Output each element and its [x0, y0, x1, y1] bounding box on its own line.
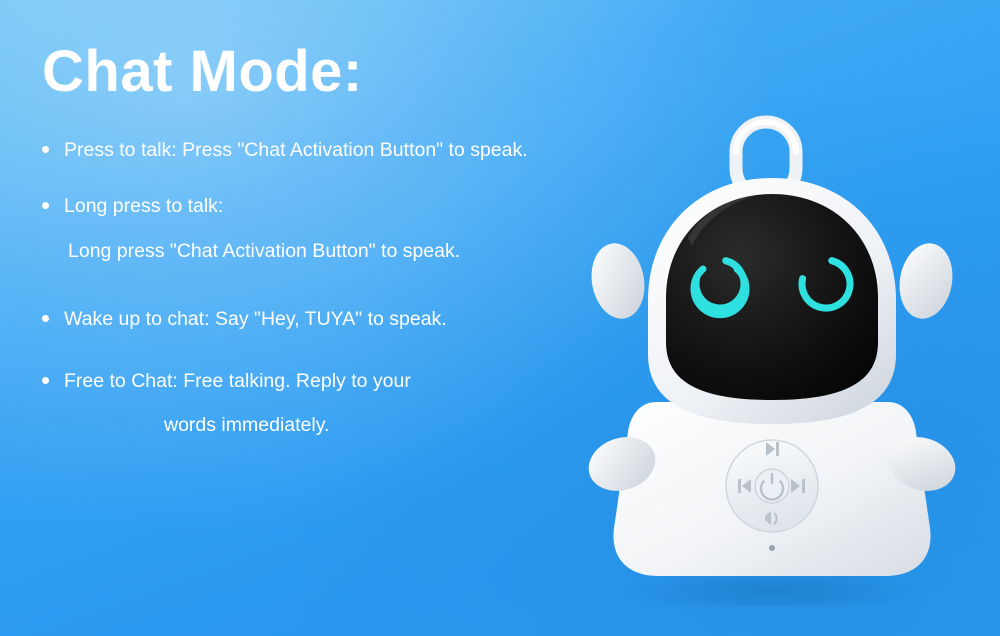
bullet-dot-icon [42, 315, 49, 322]
bullet-dot-icon [42, 377, 49, 384]
list-item-press-to-talk: Press to talk: Press "Chat Activation Bu… [42, 137, 622, 163]
text-column: Chat Mode: Press to talk: Press "Chat Ac… [42, 42, 622, 469]
page-title: Chat Mode: [42, 42, 622, 103]
list-item-long-press-to-talk: Long press to talk: Long press "Chat Act… [42, 193, 622, 264]
microphone-hole [769, 545, 775, 551]
list-item-text: Long press to talk: [64, 195, 223, 217]
list-item-text: Free to Chat: Free talking. Reply to you… [64, 370, 411, 392]
feature-list: Press to talk: Press "Chat Activation Bu… [42, 137, 622, 439]
list-item-wake-up-to-chat: Wake up to chat: Say "Hey, TUYA" to spea… [42, 306, 622, 332]
list-item-text: Press to talk: Press "Chat Activation Bu… [64, 139, 528, 161]
promo-banner: Chat Mode: Press to talk: Press "Chat Ac… [0, 0, 1000, 636]
list-item-text-second-line: Long press "Chat Activation Button" to s… [64, 238, 622, 264]
list-item-text: Wake up to chat: Say "Hey, TUYA" to spea… [64, 308, 447, 330]
list-item-text-second-line: words immediately. [64, 412, 622, 438]
bullet-dot-icon [42, 146, 49, 153]
bullet-dot-icon [42, 202, 49, 209]
robot-speaker-image [560, 86, 980, 606]
list-item-free-to-chat: Free to Chat: Free talking. Reply to you… [42, 368, 622, 439]
control-pad [726, 440, 818, 532]
